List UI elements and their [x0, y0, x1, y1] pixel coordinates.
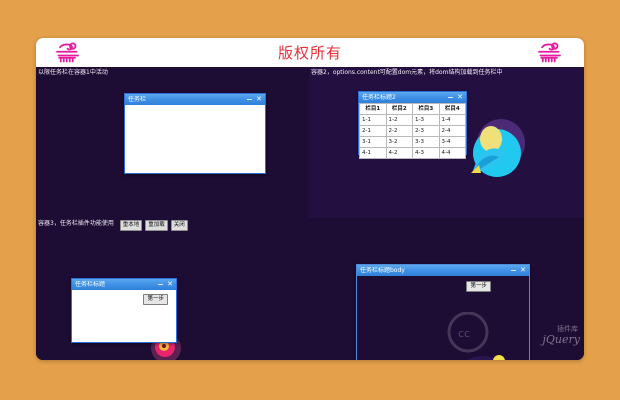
window-title: 任务栏: [128, 96, 247, 103]
window-content: 第一步: [72, 290, 176, 342]
table-header-row: 栏目1 栏目2 栏目3 栏目4: [360, 104, 466, 115]
table-cell: 1-1: [360, 115, 387, 126]
window-controls: ✕: [158, 281, 173, 288]
table-cell: 3-1: [360, 137, 387, 148]
window-title: 任务栏标题body: [360, 267, 511, 274]
close-icon[interactable]: ✕: [167, 281, 173, 288]
table-cell: 4-3: [413, 148, 440, 159]
window-title: 任务栏标题2: [362, 94, 448, 101]
close-icon[interactable]: ✕: [457, 94, 463, 101]
table-cell: 2-4: [439, 126, 466, 137]
page-header: 版权所有: [36, 38, 584, 67]
table-cell: 1-2: [386, 115, 413, 126]
table-cell: 1-4: [439, 115, 466, 126]
table-row: 2-1 2-2 2-3 2-4: [360, 126, 466, 137]
data-table: 栏目1 栏目2 栏目3 栏目4 1-1 1-2 1-3: [359, 103, 466, 159]
bird-illustration: [461, 109, 535, 183]
window-controls: ✕: [511, 267, 526, 274]
table-cell: 1-3: [413, 115, 440, 126]
window-titlebar[interactable]: 任务栏 ✕: [125, 94, 265, 105]
panel-2-note: 容器2，options.content可配置dom元素，将dom结构加载到任务栏…: [311, 68, 582, 77]
panel-1-note: 以限任务栏在容器1中活动: [38, 68, 307, 77]
table-cell: 4-4: [439, 148, 466, 159]
screenshot-root: 版权所有 以限任务栏在容器1中活动: [0, 0, 620, 400]
panel-3-buttons: 重本地 重加载 关闭: [120, 220, 188, 231]
panel-3-note-text: 容器3，任务栏插件功能使用: [38, 220, 114, 227]
window-content: 栏目1 栏目2 栏目3 栏目4 1-1 1-2 1-3: [359, 103, 466, 154]
panel-3-note: 容器3，任务栏插件功能使用 重本地 重加载 关闭: [38, 219, 307, 231]
minimize-icon[interactable]: [247, 99, 252, 100]
wind-logo-icon: [536, 42, 566, 63]
panel-container-1: 以限任务栏在容器1中活动 任务栏 ✕: [36, 67, 309, 218]
next-step-button[interactable]: 第一步: [143, 294, 168, 305]
table-cell: 3-4: [439, 137, 466, 148]
table-cell: 3-3: [413, 137, 440, 148]
column-header: 栏目3: [413, 104, 440, 115]
minimize-icon[interactable]: [448, 97, 453, 98]
window-controls: ✕: [448, 94, 463, 101]
table-row: 4-1 4-2 4-3 4-4: [360, 148, 466, 159]
next-step-button[interactable]: 第一步: [466, 281, 491, 292]
table-row: 3-1 3-2 3-3 3-4: [360, 137, 466, 148]
close-icon[interactable]: ✕: [256, 96, 262, 103]
table-cell: 2-3: [413, 126, 440, 137]
table-cell: 2-1: [360, 126, 387, 137]
table-cell: 4-1: [360, 148, 387, 159]
column-header: 栏目4: [439, 104, 466, 115]
window-content: [125, 105, 265, 173]
reload-local-button[interactable]: 重本地: [120, 220, 143, 231]
minimize-icon[interactable]: [158, 284, 163, 285]
minimize-icon[interactable]: [511, 270, 516, 271]
window-taskbar-body[interactable]: 任务栏标题body ✕ 第一步: [356, 264, 530, 360]
panel-container-3: 容器3，任务栏插件功能使用 重本地 重加载 关闭: [36, 218, 309, 360]
panel-grid: 以限任务栏在容器1中活动 任务栏 ✕ 容器2，options.content可配…: [36, 67, 584, 360]
watermark-text-cn: 插件库: [557, 324, 578, 334]
table-row: 1-1 1-2 1-3 1-4: [360, 115, 466, 126]
main-card: 版权所有 以限任务栏在容器1中活动: [36, 38, 584, 360]
wind-logo-icon: [54, 42, 84, 63]
column-header: 栏目1: [360, 104, 387, 115]
window-taskbar-3[interactable]: 任务栏标题 ✕ 第一步: [71, 278, 177, 343]
window-controls: ✕: [247, 96, 262, 103]
window-titlebar[interactable]: 任务栏标题2 ✕: [359, 92, 466, 103]
window-taskbar-2[interactable]: 任务栏标题2 ✕ 栏目1 栏目2 栏目3: [358, 91, 467, 155]
table-cell: 4-2: [386, 148, 413, 159]
close-icon[interactable]: ✕: [520, 267, 526, 274]
panel-container-4: 任务栏标题body ✕ 第一步: [309, 218, 584, 360]
window-title: 任务栏标题: [75, 281, 158, 288]
panel-container-2: 容器2，options.content可配置dom元素，将dom结构加载到任务栏…: [309, 67, 584, 218]
reload-button[interactable]: 重加载: [145, 220, 168, 231]
table-cell: 2-2: [386, 126, 413, 137]
watermark-text: jQuery: [543, 333, 581, 346]
window-content: 第一步: [357, 276, 529, 360]
kangaroo-illustration: [452, 348, 524, 360]
close-button[interactable]: 关闭: [171, 220, 188, 231]
table-cell: 3-2: [386, 137, 413, 148]
window-titlebar[interactable]: 任务栏标题 ✕: [72, 279, 176, 290]
window-taskbar-1[interactable]: 任务栏 ✕: [124, 93, 266, 174]
page-title: 版权所有: [278, 42, 342, 63]
column-header: 栏目2: [386, 104, 413, 115]
window-titlebar[interactable]: 任务栏标题body ✕: [357, 265, 529, 276]
